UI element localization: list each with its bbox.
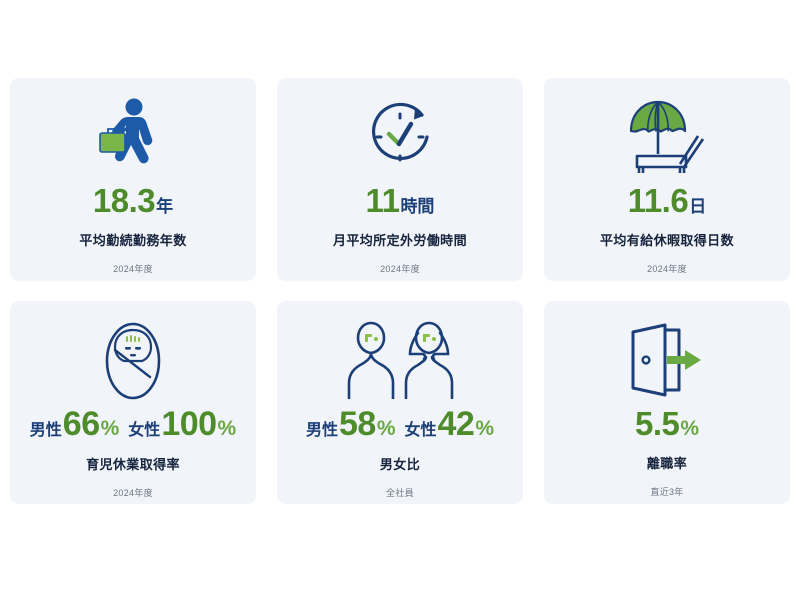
stat-card-monthly-overtime-hours: 11 時間 月平均所定外労働時間 2024年度 [277, 78, 523, 281]
clock-icon [362, 96, 438, 178]
swaddled-baby-icon [102, 319, 164, 401]
stat-label: 育児休業取得率 [86, 454, 180, 473]
stat-unit: 日 [689, 198, 706, 215]
stat-value: 5.5 [635, 407, 679, 440]
stat-male-unit: % [377, 418, 396, 439]
stat-sublabel: 直近3年 [650, 485, 683, 498]
stat-female-unit: % [475, 418, 494, 439]
stat-male-value: 58 [339, 407, 376, 441]
stat-sublabel: 全社員 [386, 486, 414, 499]
two-people-icon [340, 319, 460, 401]
stat-female-label: 女性 [405, 423, 437, 439]
stat-card-average-years-of-service: 18.3 年 平均勤続勤務年数 2024年度 [10, 78, 256, 281]
stat-value-row: 男性 66 % 女性 100 % [30, 407, 236, 441]
open-door-exit-icon [621, 319, 713, 401]
stat-female-label: 女性 [128, 423, 160, 439]
stat-male-label: 男性 [30, 423, 62, 439]
stat-male-value: 66 [63, 407, 100, 441]
beach-umbrella-lounger-icon [625, 96, 709, 178]
stat-female-unit: % [218, 418, 237, 439]
stats-card-grid: 18.3 年 平均勤続勤務年数 2024年度 [10, 78, 790, 504]
stat-unit: % [680, 418, 699, 439]
stat-male-unit: % [101, 418, 120, 439]
stat-label: 平均勤続勤務年数 [79, 230, 186, 249]
stat-sublabel: 2024年度 [380, 262, 420, 275]
stat-label: 平均有給休暇取得日数 [600, 230, 734, 249]
stat-card-turnover-rate: 5.5 % 離職率 直近3年 [544, 301, 790, 504]
stat-value-row: 11.6 日 [628, 184, 706, 217]
stat-label: 月平均所定外労働時間 [333, 230, 467, 249]
stat-sublabel: 2024年度 [647, 262, 687, 275]
stat-value: 11 [366, 184, 400, 217]
stat-card-gender-ratio: 男性 58 % 女性 42 % 男女比 全社員 [277, 301, 523, 504]
stat-male-label: 男性 [306, 423, 338, 439]
stat-unit: 年 [156, 198, 173, 215]
stat-card-average-paid-leave-days: 11.6 日 平均有給休暇取得日数 2024年度 [544, 78, 790, 281]
stat-female-value: 42 [438, 407, 475, 441]
stat-label: 男女比 [380, 454, 420, 473]
stat-value-row: 5.5 % [635, 407, 699, 440]
stat-sublabel: 2024年度 [113, 486, 153, 499]
stat-label: 離職率 [647, 453, 687, 472]
stat-value-row: 男性 58 % 女性 42 % [306, 407, 494, 441]
stat-female-value: 100 [161, 407, 216, 441]
stats-page: 18.3 年 平均勤続勤務年数 2024年度 [0, 0, 800, 600]
stat-sublabel: 2024年度 [113, 262, 153, 275]
stat-value: 11.6 [628, 184, 688, 217]
stat-value: 18.3 [93, 184, 155, 217]
stat-value-row: 18.3 年 [93, 184, 173, 217]
stat-unit: 時間 [400, 198, 434, 215]
walking-person-with-briefcase-icon [98, 96, 168, 178]
stat-card-childcare-leave-rate: 男性 66 % 女性 100 % 育児休業取得率 2024年度 [10, 301, 256, 504]
stat-value-row: 11 時間 [366, 184, 435, 217]
